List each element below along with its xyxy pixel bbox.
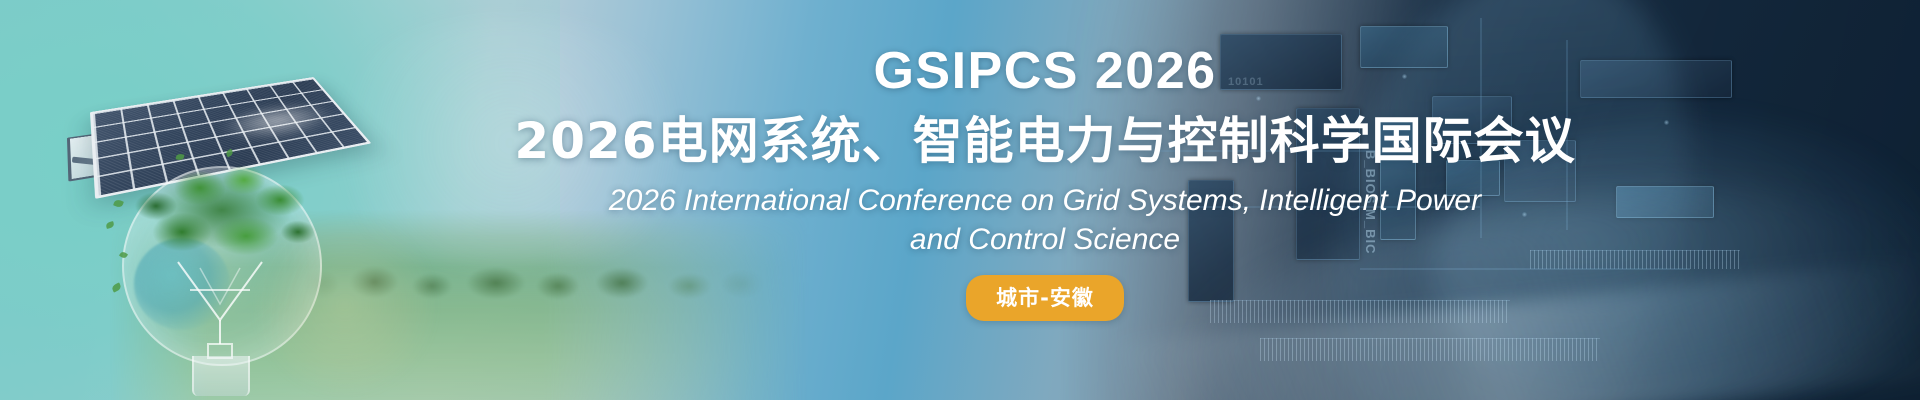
conference-acronym-title: GSIPCS 2026 bbox=[873, 44, 1216, 99]
conference-subtitle-line2: and Control Science bbox=[910, 220, 1180, 259]
conference-banner: B_BIOS M_BIC 10101 GSIPCS bbox=[0, 0, 1920, 400]
city-badge[interactable]: 城市-安徽 bbox=[966, 275, 1124, 321]
banner-content: GSIPCS 2026 2026电网系统、智能电力与控制科学国际会议 2026 … bbox=[0, 0, 1920, 400]
conference-subtitle-line1: 2026 International Conference on Grid Sy… bbox=[609, 181, 1481, 220]
conference-title-chinese: 2026电网系统、智能电力与控制科学国际会议 bbox=[514, 113, 1575, 171]
